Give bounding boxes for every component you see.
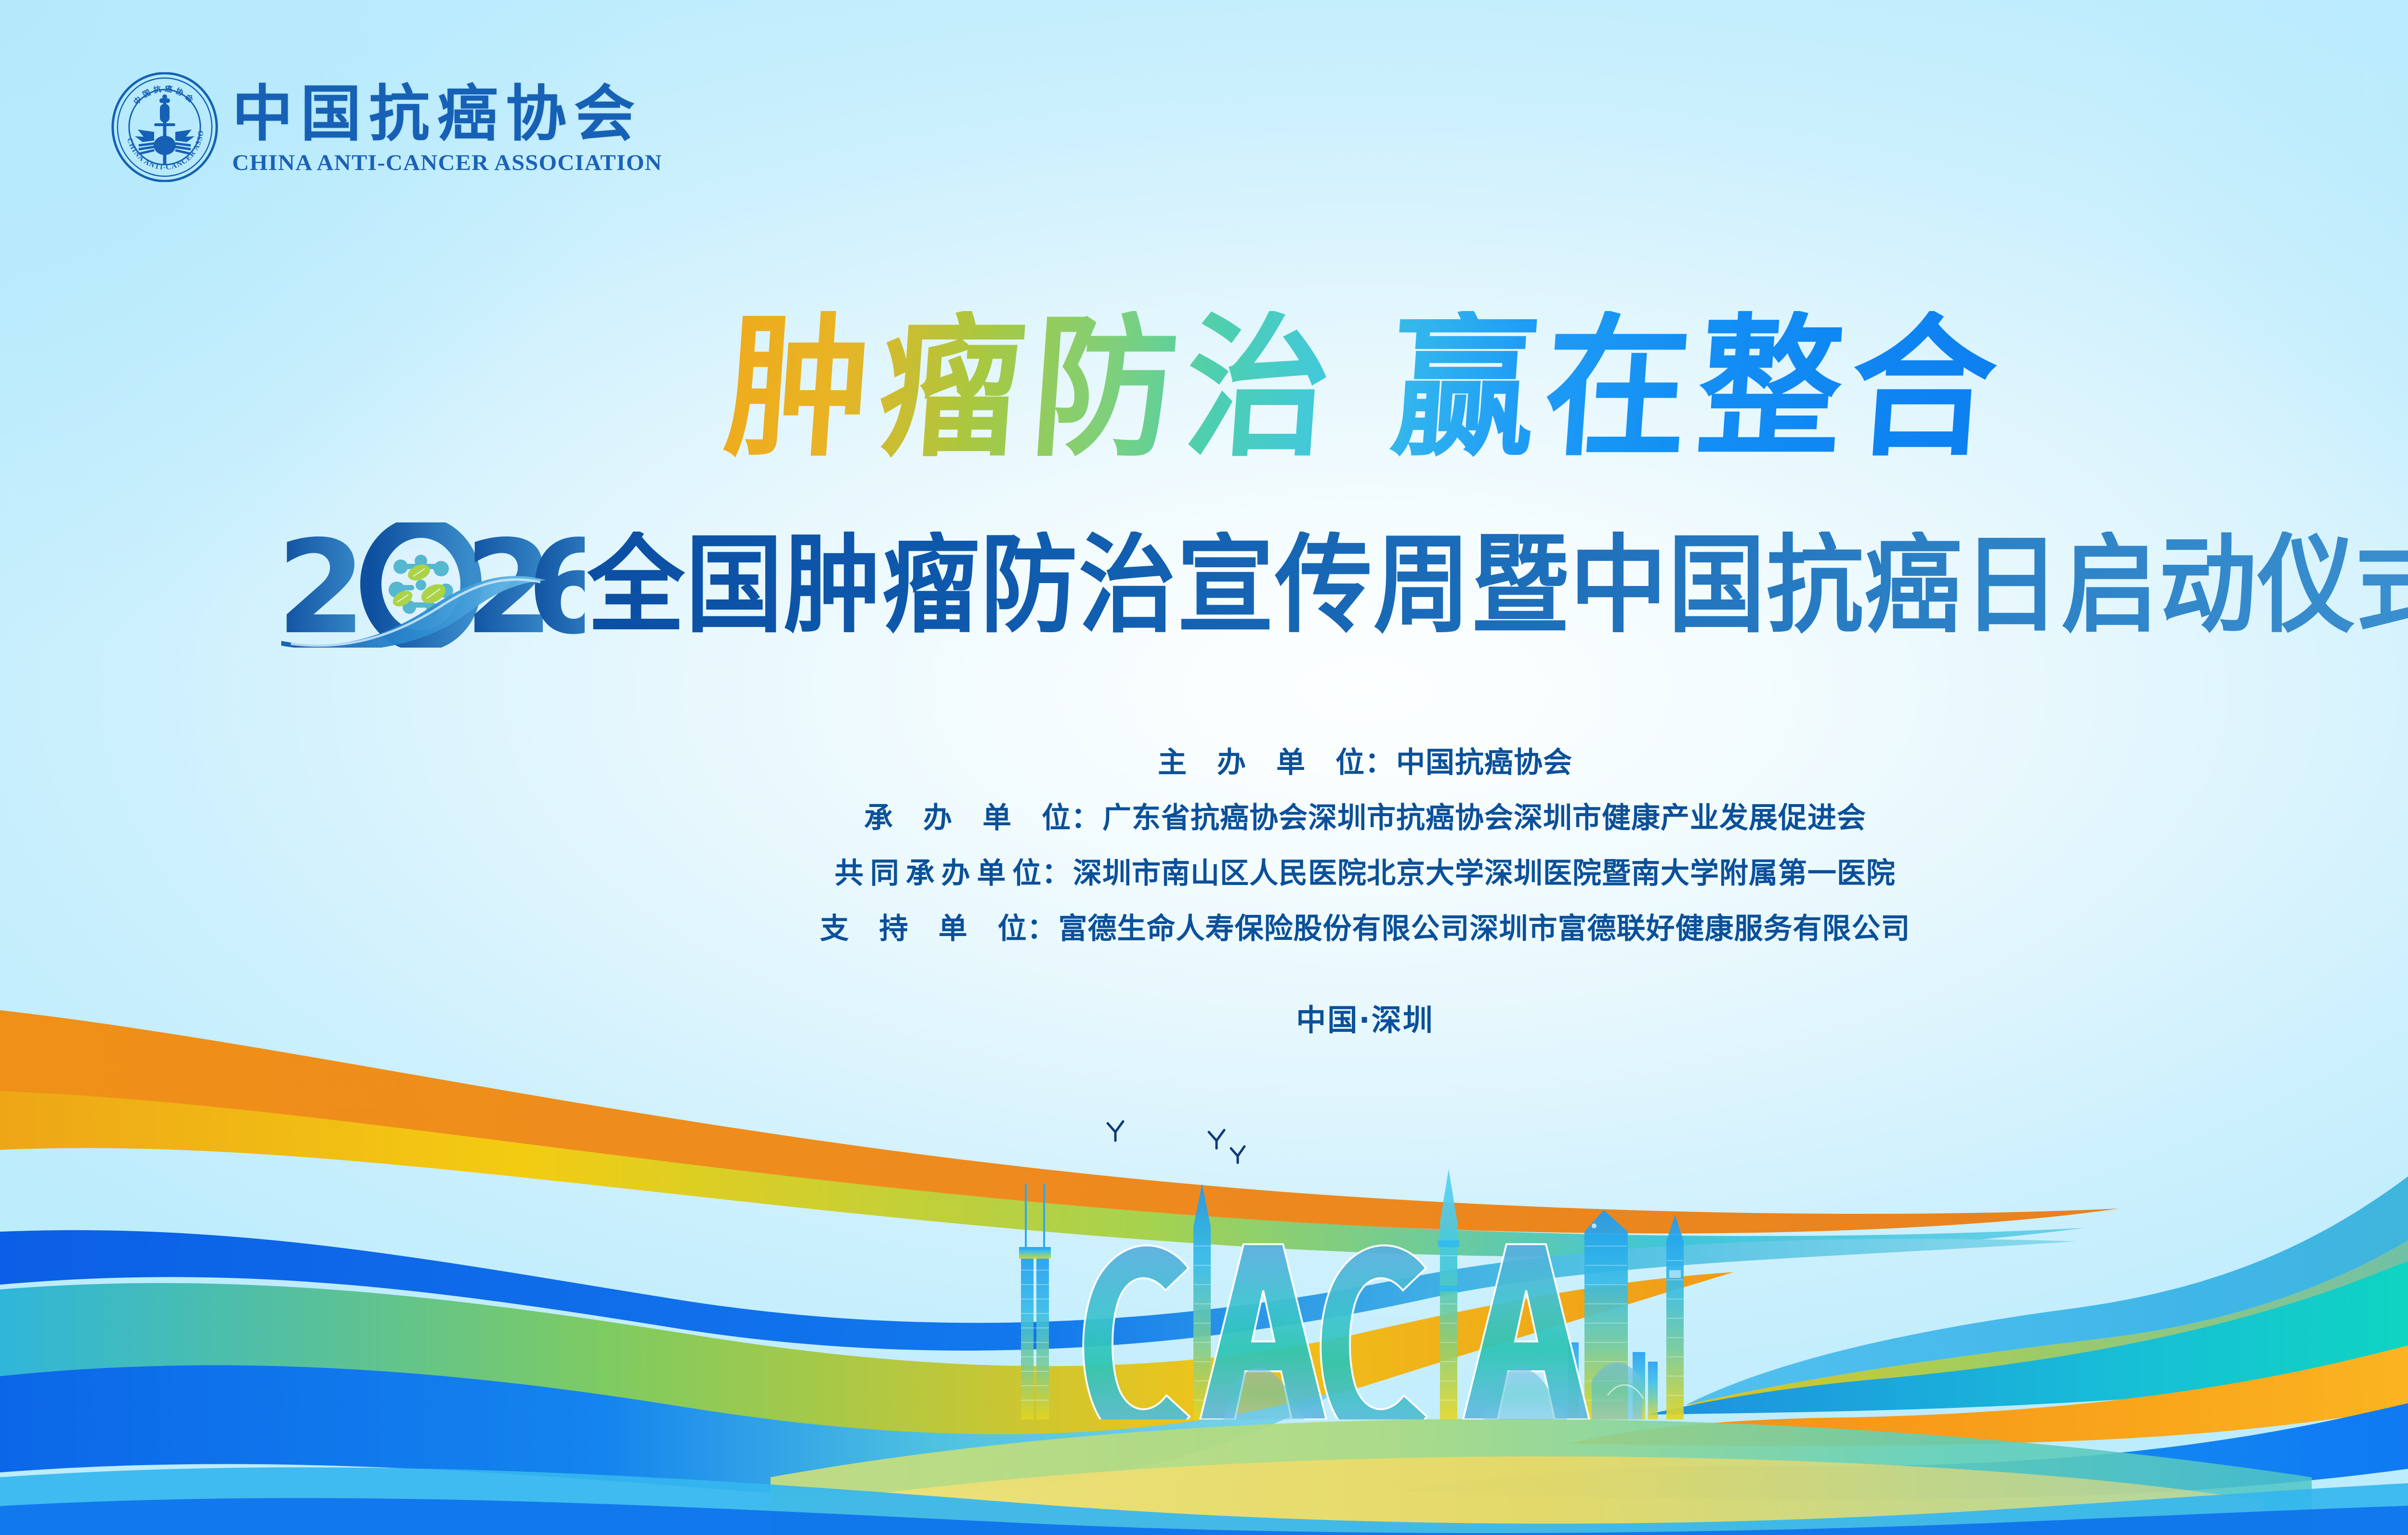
organizer-value-organizer-3: 深圳市健康产业发展促进会 <box>1514 794 1866 836</box>
organizer-label-organizer: 承 办 单 位 <box>864 794 1071 836</box>
skyline-letter-a-2 <box>1463 1244 1589 1419</box>
organizer-block: 主 办 单 位 ： 中国抗癌协会 承 办 单 位 ： 广东省抗癌协会 深圳市抗癌… <box>0 739 2408 947</box>
organizer-colon-organizer: ： <box>1071 794 1100 836</box>
organizer-value-organizer-1: 广东省抗癌协会 <box>1102 794 1308 836</box>
organizer-label-host: 主 办 单 位 <box>1158 739 1365 781</box>
calligraphy-part-2: 赢在整合 <box>1385 297 2010 477</box>
subtitle-heading: 全国肿瘤防治宣传周暨中国抗癌日启动仪式 <box>588 532 2408 638</box>
organizer-value-organizer-2: 深圳市抗癌协会 <box>1308 794 1514 836</box>
organizer-value-coorganizer-1: 深圳市南山区人民医院 <box>1073 850 1367 892</box>
svg-text:6: 6 <box>527 522 585 648</box>
organizer-colon-coorganizer: ： <box>1042 850 1071 892</box>
event-subtitle: 2 <box>0 518 2408 652</box>
event-subtitle-row: 2 <box>276 522 2408 648</box>
poster-canvas: 中国抗癌协会 CHINA ANTI-CANCER ASSOCIATION 中国抗… <box>0 0 2408 1535</box>
organizer-colon-host: ： <box>1365 739 1394 781</box>
organizer-row-host: 主 办 单 位 ： 中国抗癌协会 <box>1158 739 1572 781</box>
logo-wordmark: 中国抗癌协会 CHINA ANTI-CANCER ASSOCIATION <box>232 80 650 174</box>
organizer-value-supporter-1: 富德生命人寿保险股份有限公司 <box>1059 905 1470 947</box>
building-twin-antenna <box>1019 1184 1051 1419</box>
organizer-value-coorganizer-2: 北京大学深圳医院 <box>1367 850 1602 892</box>
organizer-label-supporter: 支 持 单 位 <box>820 905 1027 947</box>
logo-chinese-name: 中国抗癌协会 <box>232 83 650 144</box>
skyline-letter-a-1 <box>1200 1244 1326 1419</box>
organizer-row-supporter: 支 持 单 位 ： 富德生命人寿保险股份有限公司 深圳市富德联好健康服务有限公司 <box>820 905 1911 947</box>
organizer-colon-supporter: ： <box>1027 905 1057 947</box>
calligraphy-part-1: 肿瘤防治 <box>720 297 1345 477</box>
calligraphy-text: 肿瘤防治赢在整合 <box>720 311 2009 464</box>
svg-text:2: 2 <box>276 522 366 648</box>
organizer-value-coorganizer-3: 暨南大学附属第一医院 <box>1602 850 1896 892</box>
flying-birds-icon <box>1098 1104 1300 1181</box>
organizer-row-coorganizer: 共同承办单位 ： 深圳市南山区人民医院 北京大学深圳医院 暨南大学附属第一医院 <box>835 850 1896 892</box>
caca-crab-sword-emblem-icon: 中国抗癌协会 CHINA ANTI-CANCER ASSOCIATION <box>110 72 220 182</box>
skyline-letter-c-2 <box>1321 1245 1427 1419</box>
logo-english-name: CHINA ANTI-CANCER ASSOCIATION <box>232 152 662 174</box>
building-slim-tower <box>1666 1215 1684 1419</box>
organizer-label-coorganizer: 共同承办单位 <box>835 850 1042 892</box>
organizer-value-host: 中国抗癌协会 <box>1396 739 1572 781</box>
building-needle-tower <box>1438 1169 1459 1419</box>
skyline-letter-c-1 <box>1083 1245 1190 1419</box>
organizer-row-organizer: 承 办 单 位 ： 广东省抗癌协会 深圳市抗癌协会 深圳市健康产业发展促进会 <box>864 794 1866 836</box>
year-2026-logo-icon: 2 <box>276 522 585 648</box>
association-logo: 中国抗癌协会 CHINA ANTI-CANCER ASSOCIATION 中国抗… <box>110 72 650 182</box>
organizer-value-supporter-2: 深圳市富德联好健康服务有限公司 <box>1470 905 1911 947</box>
calligraphy-title: 肿瘤防治赢在整合 <box>0 286 2408 489</box>
